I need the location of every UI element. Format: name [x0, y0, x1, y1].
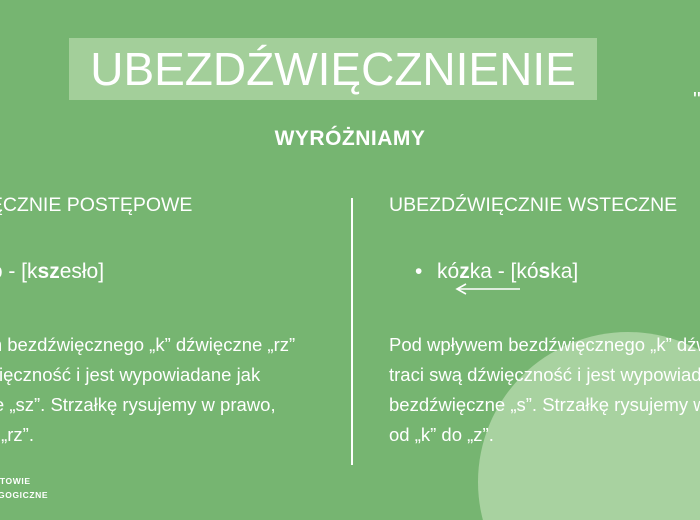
arrow-left-icon: [452, 282, 522, 296]
column-left-body: Pod wpływem bezdźwięcznego „k” dźwięczne…: [0, 330, 308, 450]
column-right-heading: UBEZDŹWIĘCZNIE WSTECZNE: [389, 192, 700, 218]
example-text-part-2: ka - [kó: [470, 260, 539, 283]
example-text-part-2: esło]: [60, 260, 104, 283]
column-right-example-list: •kózka - [kóska]: [415, 258, 700, 286]
logo-line-2: PEDAGOGICZNE: [0, 488, 48, 502]
column-left: UBEZDŹWIĘCZNIE POSTĘPOWE •krzesło - [ksz…: [0, 192, 308, 450]
column-left-example-list: •krzesło - [kszesło]: [0, 258, 308, 286]
column-left-example-wrap: •krzesło - [kszesło]: [0, 258, 308, 286]
logo: POGOTOWIE PEDAGOGICZNE: [0, 474, 48, 502]
example-text-part-1: kó: [437, 260, 459, 283]
clipped-edge-glyph: ": [693, 92, 700, 108]
example-text-bold-2: s: [539, 260, 551, 283]
column-right: UBEZDŹWIĘCZNIE WSTECZNE •kózka - [kóska]…: [389, 192, 700, 450]
example-text-part-1: krzesło - [k: [0, 260, 38, 283]
column-left-heading: UBEZDŹWIĘCZNIE POSTĘPOWE: [0, 192, 308, 218]
bullet-icon: •: [415, 258, 437, 286]
example-text-bold-1: sz: [38, 260, 60, 283]
page-title: UBEZDŹWIĘCZNIENIE: [69, 38, 597, 100]
slide-canvas: UBEZDŹWIĘCZNIENIE " WYRÓŻNIAMY UBEZDŹWIĘ…: [0, 0, 700, 520]
example-text-bold-1: z: [459, 260, 470, 283]
list-item: •krzesło - [kszesło]: [0, 258, 308, 286]
column-right-example-wrap: •kózka - [kóska]: [389, 258, 700, 286]
subtitle: WYRÓŻNIAMY: [0, 127, 700, 151]
logo-line-1: POGOTOWIE: [0, 474, 48, 488]
list-item: •kózka - [kóska]: [415, 258, 700, 286]
column-right-body: Pod wpływem bezdźwięcznego „k” dźwięczne…: [389, 330, 700, 450]
example-text-part-3: ka]: [550, 260, 578, 283]
column-divider: [351, 198, 353, 465]
